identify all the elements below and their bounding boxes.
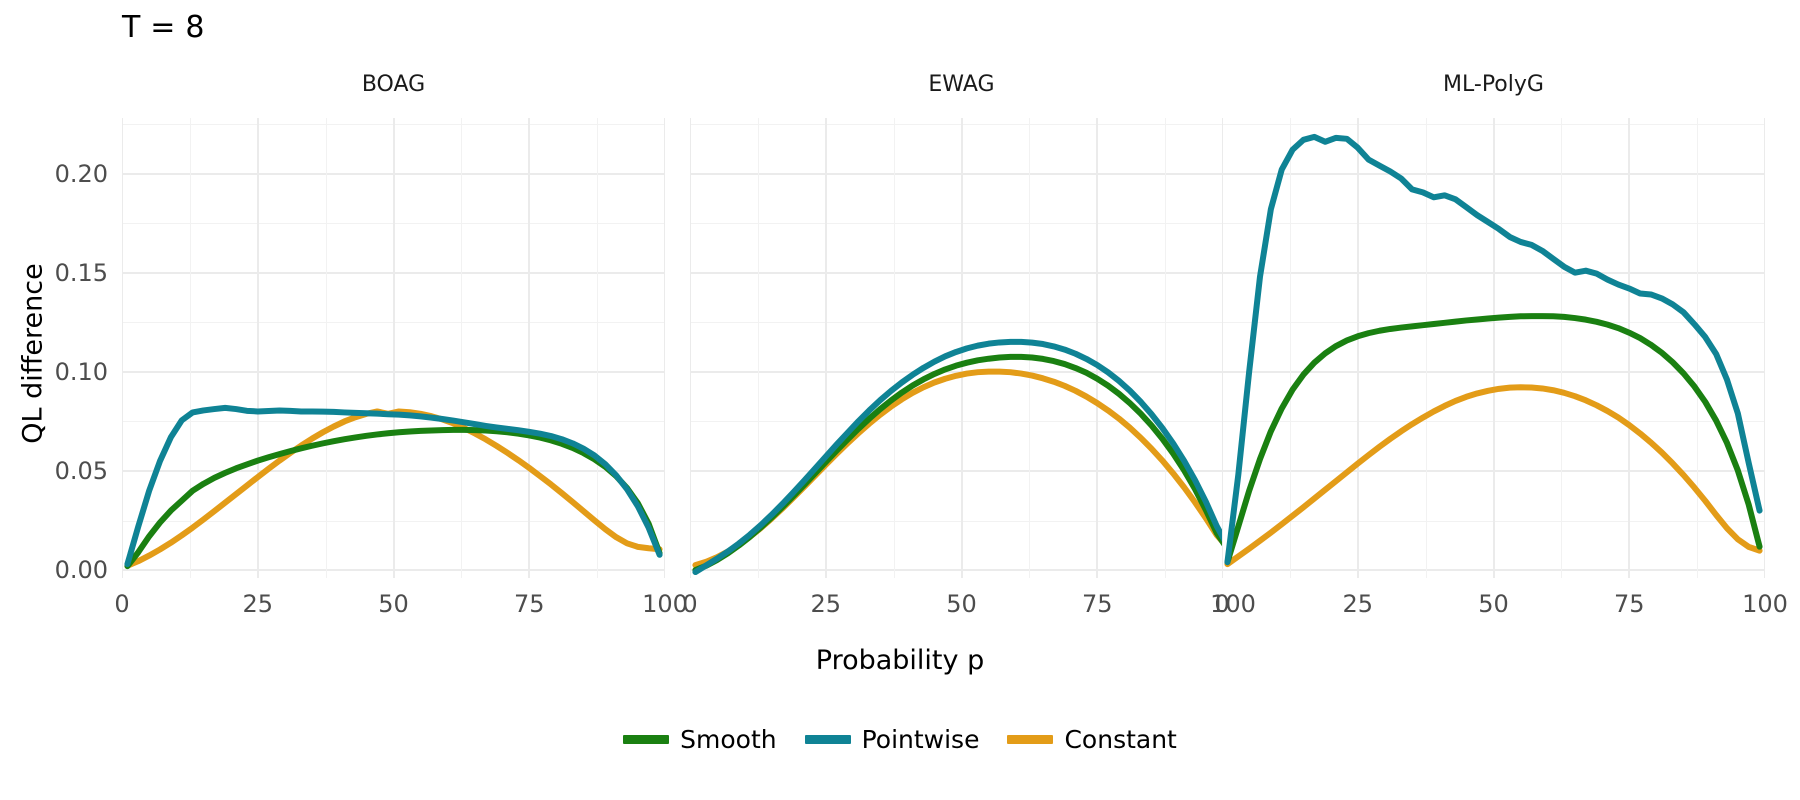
x-tick-label: 50 bbox=[1478, 590, 1509, 618]
x-tick-label: 100 bbox=[1742, 590, 1788, 618]
x-tick-label: 25 bbox=[810, 590, 841, 618]
y-tick-label: 0.05 bbox=[55, 457, 108, 485]
legend-label: Pointwise bbox=[862, 725, 980, 754]
x-tick-label: 75 bbox=[1082, 590, 1113, 618]
plot-panel-ml-polyg bbox=[1222, 118, 1765, 578]
y-tick-label: 0.15 bbox=[55, 259, 108, 287]
series-line-constant bbox=[1227, 387, 1759, 564]
legend-label: Smooth bbox=[680, 725, 776, 754]
panel-title-ml-polyg: ML-PolyG bbox=[1222, 72, 1765, 97]
legend-item-smooth[interactable]: Smooth bbox=[623, 725, 776, 754]
series-lines bbox=[122, 118, 665, 578]
x-tick-label: 25 bbox=[1342, 590, 1373, 618]
legend-label: Constant bbox=[1064, 725, 1176, 754]
x-tick-label: 25 bbox=[242, 590, 273, 618]
series-line-pointwise bbox=[1227, 137, 1759, 562]
plot-panel-ewag bbox=[690, 118, 1233, 578]
series-lines bbox=[1222, 118, 1765, 578]
x-tick-label: 75 bbox=[1614, 590, 1645, 618]
page-title: T = 8 bbox=[122, 10, 205, 45]
chart-root: T = 8 QL difference Probability p 0.000.… bbox=[0, 0, 1800, 800]
series-line-smooth bbox=[1227, 316, 1759, 562]
panel-title-ewag: EWAG bbox=[690, 72, 1233, 97]
y-tick-label: 0.10 bbox=[55, 358, 108, 386]
legend-key-icon bbox=[805, 735, 851, 744]
legend-item-constant[interactable]: Constant bbox=[1007, 725, 1176, 754]
y-tick-label: 0.00 bbox=[55, 556, 108, 584]
y-tick-label: 0.20 bbox=[55, 160, 108, 188]
series-lines bbox=[690, 118, 1233, 578]
panel-title-boag: BOAG bbox=[122, 72, 665, 97]
x-tick-label: 100 bbox=[642, 590, 688, 618]
legend-key-icon bbox=[623, 735, 669, 744]
series-line-smooth bbox=[695, 357, 1227, 570]
legend-item-pointwise[interactable]: Pointwise bbox=[805, 725, 980, 754]
x-tick-label: 0 bbox=[682, 590, 697, 618]
x-tick-label: 50 bbox=[378, 590, 409, 618]
plot-panel-boag bbox=[122, 118, 665, 578]
x-tick-label: 75 bbox=[514, 590, 545, 618]
x-tick-label: 0 bbox=[1214, 590, 1229, 618]
x-tick-label: 0 bbox=[114, 590, 129, 618]
legend-key-icon bbox=[1007, 735, 1053, 744]
legend: SmoothPointwiseConstant bbox=[0, 725, 1800, 754]
x-axis-title: Probability p bbox=[0, 645, 1800, 676]
x-tick-label: 50 bbox=[946, 590, 977, 618]
y-axis-title: QL difference bbox=[18, 184, 49, 524]
series-line-smooth bbox=[127, 430, 659, 566]
series-line-constant bbox=[695, 372, 1227, 566]
